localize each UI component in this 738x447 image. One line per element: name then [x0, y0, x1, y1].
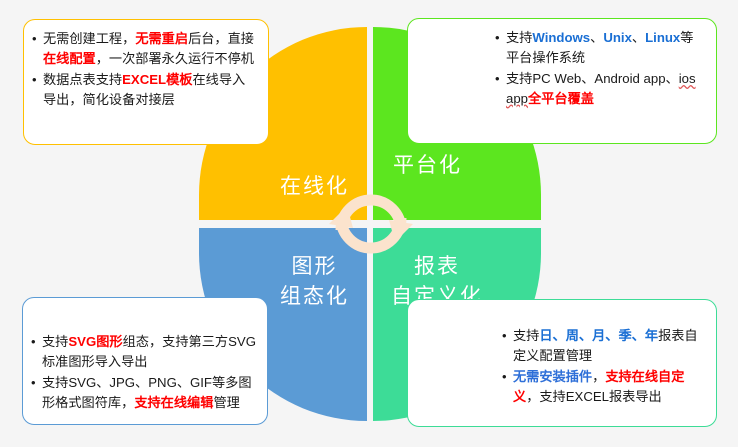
- segment-text-highlight: 无需重启: [135, 31, 188, 46]
- segment-text-highlight: 无需安装插件: [513, 369, 592, 384]
- list-item: • 支持SVG图形组态，支持第三方SVG标准图形导入导出: [29, 332, 257, 371]
- list-item: • 无需安装插件，支持在线自定义，支持EXCEL报表导出: [500, 367, 706, 406]
- bullet-marker: •: [32, 70, 37, 89]
- callout-report-list: • 支持日、周、月、季、年报表自定义配置管理 • 无需安装插件，支持在线自定义，…: [500, 326, 706, 406]
- segment-text: 支持: [42, 334, 68, 349]
- bullet-marker: •: [32, 29, 37, 48]
- segment-text: 管理: [213, 395, 239, 410]
- segment-text: 支持: [513, 328, 539, 343]
- segment-text: 无需创建工程，: [43, 31, 135, 46]
- bullet-marker: •: [502, 367, 507, 386]
- callout-cross-platform: • 支持Windows、Unix、Linux等平台操作系统 • 支持PC Web…: [407, 18, 717, 144]
- callout-online-list: • 无需创建工程，无需重启后台，直接在线配置，一次部署永久运行不停机 • 数据点…: [30, 29, 258, 109]
- callout-online: • 无需创建工程，无需重启后台，直接在线配置，一次部署永久运行不停机 • 数据点…: [23, 19, 269, 145]
- list-item: • 支持PC Web、Android app、ios app全平台覆盖: [493, 69, 706, 108]
- list-item: • 支持Windows、Unix、Linux等平台操作系统: [493, 28, 706, 67]
- segment-text-highlight: SVG图形: [68, 334, 122, 349]
- segment-text-highlight: EXCEL模板: [122, 72, 192, 87]
- quadrant-graphics-label: 图形 组态化: [280, 252, 349, 313]
- segment-text: 支持: [506, 30, 532, 45]
- quadrant-online-label: 在线化: [280, 172, 349, 202]
- infographic-canvas: 在线化 跨 平台化 图形 组态化 报表 自定义化: [0, 0, 738, 447]
- segment-text: ，支持EXCEL报表导出: [526, 389, 662, 404]
- segment-text: 支持PC Web、Android app、: [506, 71, 679, 86]
- callout-cross-platform-list: • 支持Windows、Unix、Linux等平台操作系统 • 支持PC Web…: [493, 28, 706, 108]
- segment-text: 数据点表支持: [43, 72, 122, 87]
- segment-text-highlight: 日、周、月、季、年: [539, 328, 658, 343]
- bullet-marker: •: [502, 326, 507, 345]
- callout-report: • 支持日、周、月、季、年报表自定义配置管理 • 无需安装插件，支持在线自定义，…: [407, 299, 717, 427]
- bullet-marker: •: [31, 373, 36, 392]
- bullet-marker: •: [495, 28, 500, 47]
- segment-text: 、: [590, 30, 603, 45]
- segment-text-highlight: Unix: [603, 30, 632, 45]
- segment-text: 、: [632, 30, 645, 45]
- list-item: • 无需创建工程，无需重启后台，直接在线配置，一次部署永久运行不停机: [30, 29, 258, 68]
- segment-text: ，: [592, 369, 605, 384]
- list-item: • 支持SVG、JPG、PNG、GIF等多图形格式图符库，支持在线编辑管理: [29, 373, 257, 412]
- segment-text-highlight: 全平台覆盖: [528, 91, 594, 106]
- segment-text: ，一次部署永久运行不停机: [96, 51, 254, 66]
- list-item: • 支持日、周、月、季、年报表自定义配置管理: [500, 326, 706, 365]
- list-item: • 数据点表支持EXCEL模板在线导入导出，简化设备对接层: [30, 70, 258, 109]
- segment-text-highlight: Windows: [532, 30, 590, 45]
- callout-graphics-list: • 支持SVG图形组态，支持第三方SVG标准图形导入导出 • 支持SVG、JPG…: [29, 332, 257, 412]
- callout-graphics: • 支持SVG图形组态，支持第三方SVG标准图形导入导出 • 支持SVG、JPG…: [22, 297, 268, 425]
- segment-text-highlight: 支持在线编辑: [134, 395, 213, 410]
- segment-text-highlight: 在线配置: [43, 51, 96, 66]
- segment-text: 后台，直接: [188, 31, 254, 46]
- segment-text-highlight: Linux: [645, 30, 680, 45]
- bullet-marker: •: [495, 69, 500, 88]
- bullet-marker: •: [31, 332, 36, 351]
